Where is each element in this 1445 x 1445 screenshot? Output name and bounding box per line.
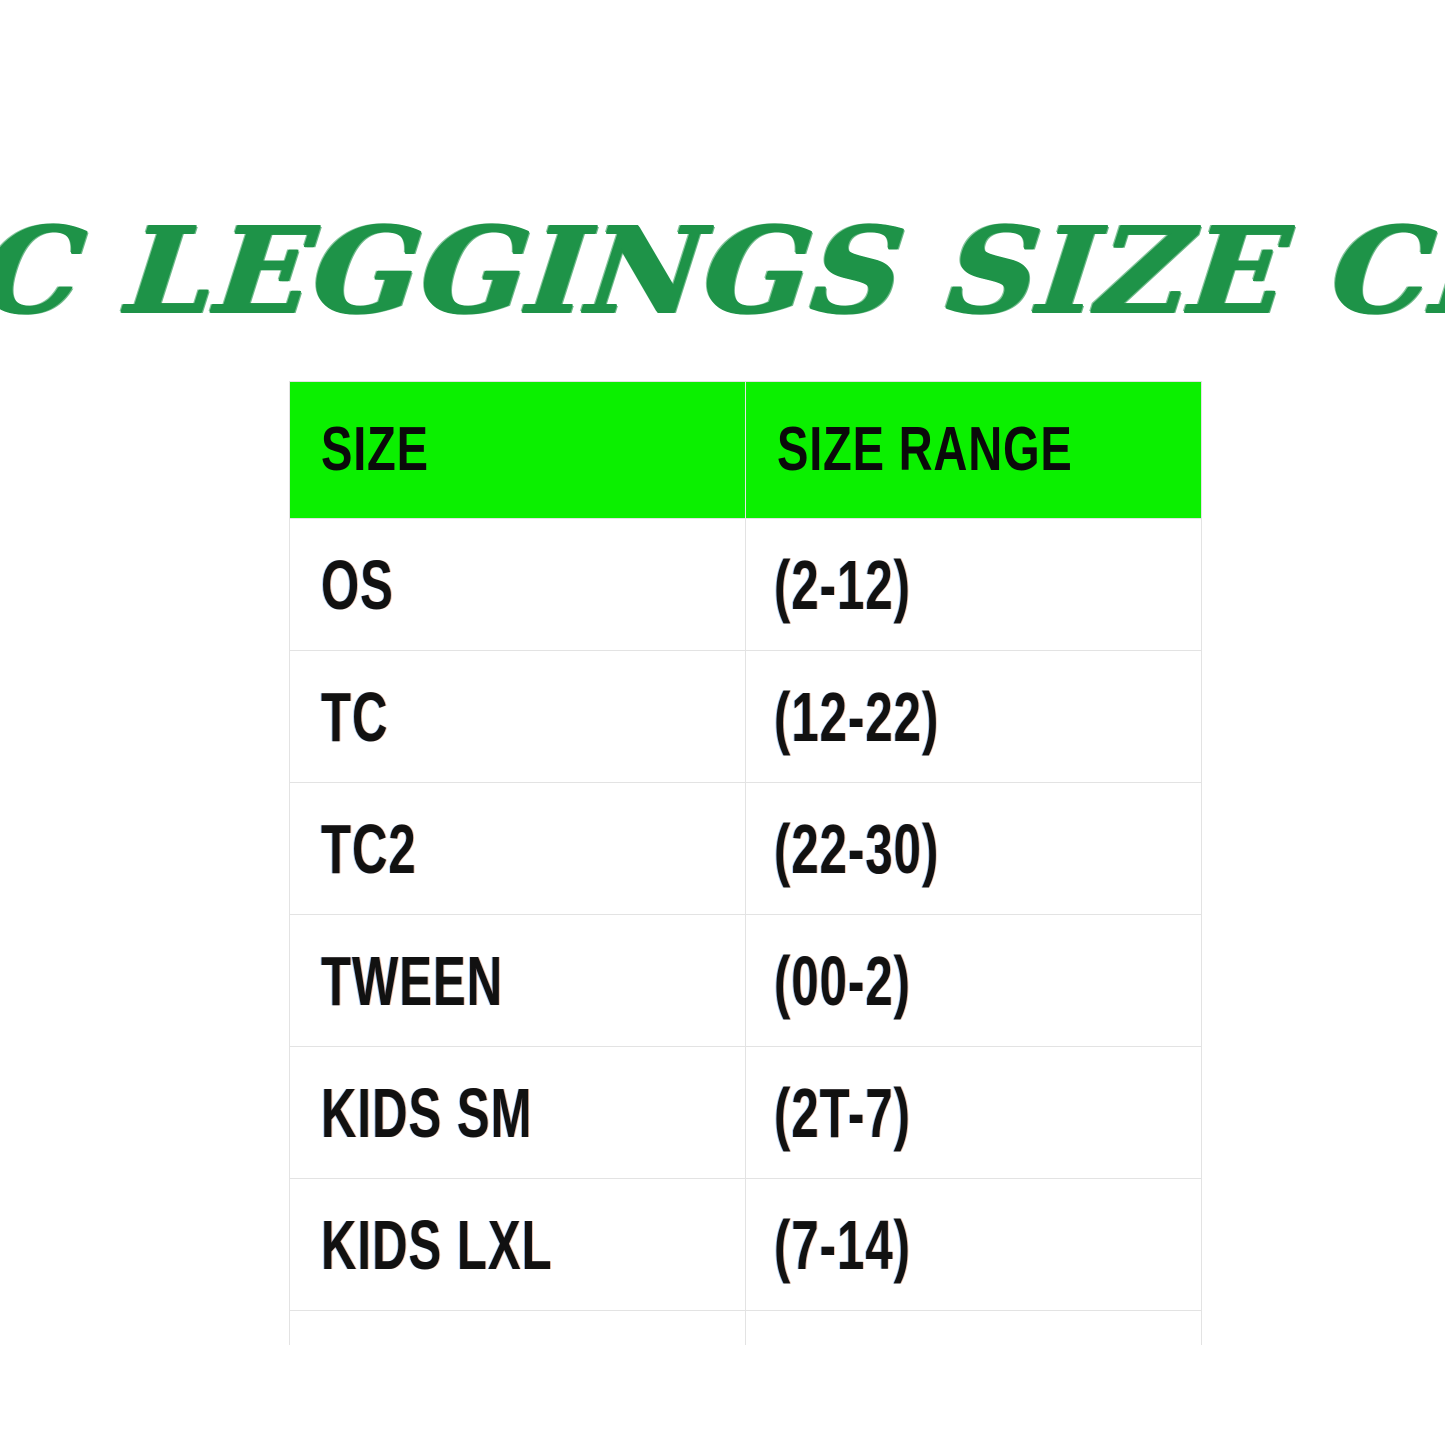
- cell-size: TC2: [290, 783, 746, 915]
- table-header-row: SIZE SIZE RANGE: [290, 382, 1202, 519]
- cell-size-box: KIDS LXL: [290, 1210, 745, 1280]
- cell-size: KIDS LXL: [290, 1179, 746, 1311]
- cell-size-range-value: (22-30): [774, 814, 939, 884]
- cell-size-range-box: (7-14): [746, 1210, 1201, 1280]
- cell-size-range-value: (2T-7): [774, 1078, 911, 1148]
- table-row: TWEEN (00-2): [290, 915, 1202, 1047]
- table-row: KIDS SM (2T-7): [290, 1047, 1202, 1179]
- cell-size-value: TWEEN: [321, 946, 503, 1016]
- column-header-size-label: SIZE: [321, 419, 429, 481]
- cell-size-range: (00-2): [746, 915, 1202, 1047]
- cell-size-range-value: (12-22): [774, 682, 939, 752]
- table-row-empty: [290, 1311, 1202, 1346]
- cell-size-value: KIDS LXL: [321, 1210, 553, 1280]
- cell-size-box: TC2: [290, 814, 745, 884]
- cell-size-box: TC: [290, 682, 745, 752]
- cell-size: TWEEN: [290, 915, 746, 1047]
- column-header-size-range: SIZE RANGE: [746, 382, 1202, 519]
- cell-size-box: TWEEN: [290, 946, 745, 1016]
- table-row: KIDS LXL (7-14): [290, 1179, 1202, 1311]
- cell-size-value: OS: [321, 550, 394, 620]
- column-header-size-range-label: SIZE RANGE: [777, 419, 1073, 481]
- size-chart-table: SIZE SIZE RANGE OS: [289, 381, 1202, 1346]
- cell-empty: [746, 1311, 1202, 1346]
- column-header-size-cell: SIZE: [290, 419, 745, 481]
- cell-size-value: TC2: [321, 814, 417, 884]
- table-header: SIZE SIZE RANGE: [290, 382, 1202, 519]
- cell-size-box: KIDS SM: [290, 1078, 745, 1148]
- cell-empty: [290, 1311, 746, 1346]
- cell-size-range-value: (2-12): [774, 550, 911, 620]
- cell-size-range-box: (2T-7): [746, 1078, 1201, 1148]
- cell-size-range-value: (7-14): [774, 1210, 911, 1280]
- column-header-size: SIZE: [290, 382, 746, 519]
- cell-size-range: (7-14): [746, 1179, 1202, 1311]
- size-chart-table-container: SIZE SIZE RANGE OS: [289, 381, 1201, 1346]
- cell-size-range-box: (00-2): [746, 946, 1201, 1016]
- table-row: TC (12-22): [290, 651, 1202, 783]
- cell-size-range: (2-12): [746, 519, 1202, 651]
- cell-size: KIDS SM: [290, 1047, 746, 1179]
- table-row: OS (2-12): [290, 519, 1202, 651]
- cell-size-value: TC: [321, 682, 388, 752]
- cell-size-range: (22-30): [746, 783, 1202, 915]
- cell-size-range-box: (22-30): [746, 814, 1201, 884]
- cell-size-box: OS: [290, 550, 745, 620]
- page-title: GCLLC LEGGINGS SIZE CHART: [0, 196, 1445, 346]
- page-title-text: GCLLC LEGGINGS SIZE CHART: [0, 212, 1445, 330]
- cell-size-range: (12-22): [746, 651, 1202, 783]
- cell-size-value: KIDS SM: [321, 1078, 533, 1148]
- column-header-size-range-cell: SIZE RANGE: [746, 419, 1201, 481]
- table-row: TC2 (22-30): [290, 783, 1202, 915]
- cell-size-range-box: (2-12): [746, 550, 1201, 620]
- cell-size-range: (2T-7): [746, 1047, 1202, 1179]
- cell-size: TC: [290, 651, 746, 783]
- cell-size: OS: [290, 519, 746, 651]
- cell-size-range-box: (12-22): [746, 682, 1201, 752]
- table-body: OS (2-12) TC: [290, 519, 1202, 1346]
- size-chart-page: GCLLC LEGGINGS SIZE CHART SIZE SIZE RANG: [0, 0, 1445, 1445]
- cell-size-range-value: (00-2): [774, 946, 911, 1016]
